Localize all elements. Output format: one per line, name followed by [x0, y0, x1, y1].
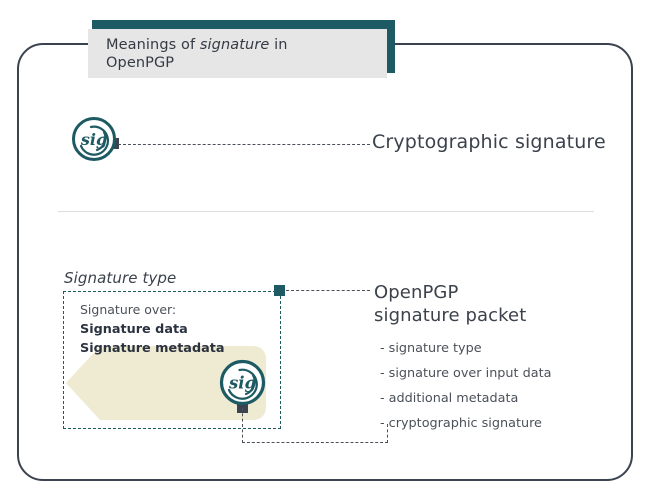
- title-box: Meanings of signature inOpenPGP: [88, 29, 387, 78]
- connector-line-crypto-signature: [118, 144, 370, 145]
- list-item: - additional metadata: [380, 391, 610, 406]
- seal-text: sig: [80, 130, 107, 149]
- title-part-emphasis: signature: [200, 37, 270, 53]
- packet-title-line2: signature packet: [374, 305, 526, 326]
- title-part-post: in: [269, 37, 287, 53]
- title-part-pre: Meanings of: [106, 37, 200, 53]
- signature-metadata-label: Signature metadata: [80, 341, 225, 356]
- packet-title: OpenPGPsignature packet: [374, 281, 526, 327]
- connector-line-packet: [286, 290, 370, 291]
- signature-type-caption: Signature type: [64, 269, 176, 287]
- page-title: Meanings of signature inOpenPGP: [106, 37, 387, 72]
- packet-field-list: - signature type - signature over input …: [380, 341, 610, 441]
- cryptographic-signature-label: Cryptographic signature: [372, 131, 606, 153]
- list-item: - signature over input data: [380, 366, 610, 381]
- signature-over-label: Signature over:: [80, 302, 176, 317]
- connector-segment-down: [242, 408, 243, 443]
- packet-title-line1: OpenPGP: [374, 282, 458, 303]
- title-part-line2: OpenPGP: [106, 55, 174, 71]
- seal-text-inner: sig: [228, 374, 256, 393]
- connector-segment-right: [242, 442, 388, 443]
- section-divider: [58, 211, 594, 212]
- signature-type-anchor-square: [274, 285, 285, 296]
- signature-data-label: Signature data: [80, 322, 188, 337]
- list-item: - cryptographic signature: [380, 416, 610, 431]
- list-item: - signature type: [380, 341, 610, 356]
